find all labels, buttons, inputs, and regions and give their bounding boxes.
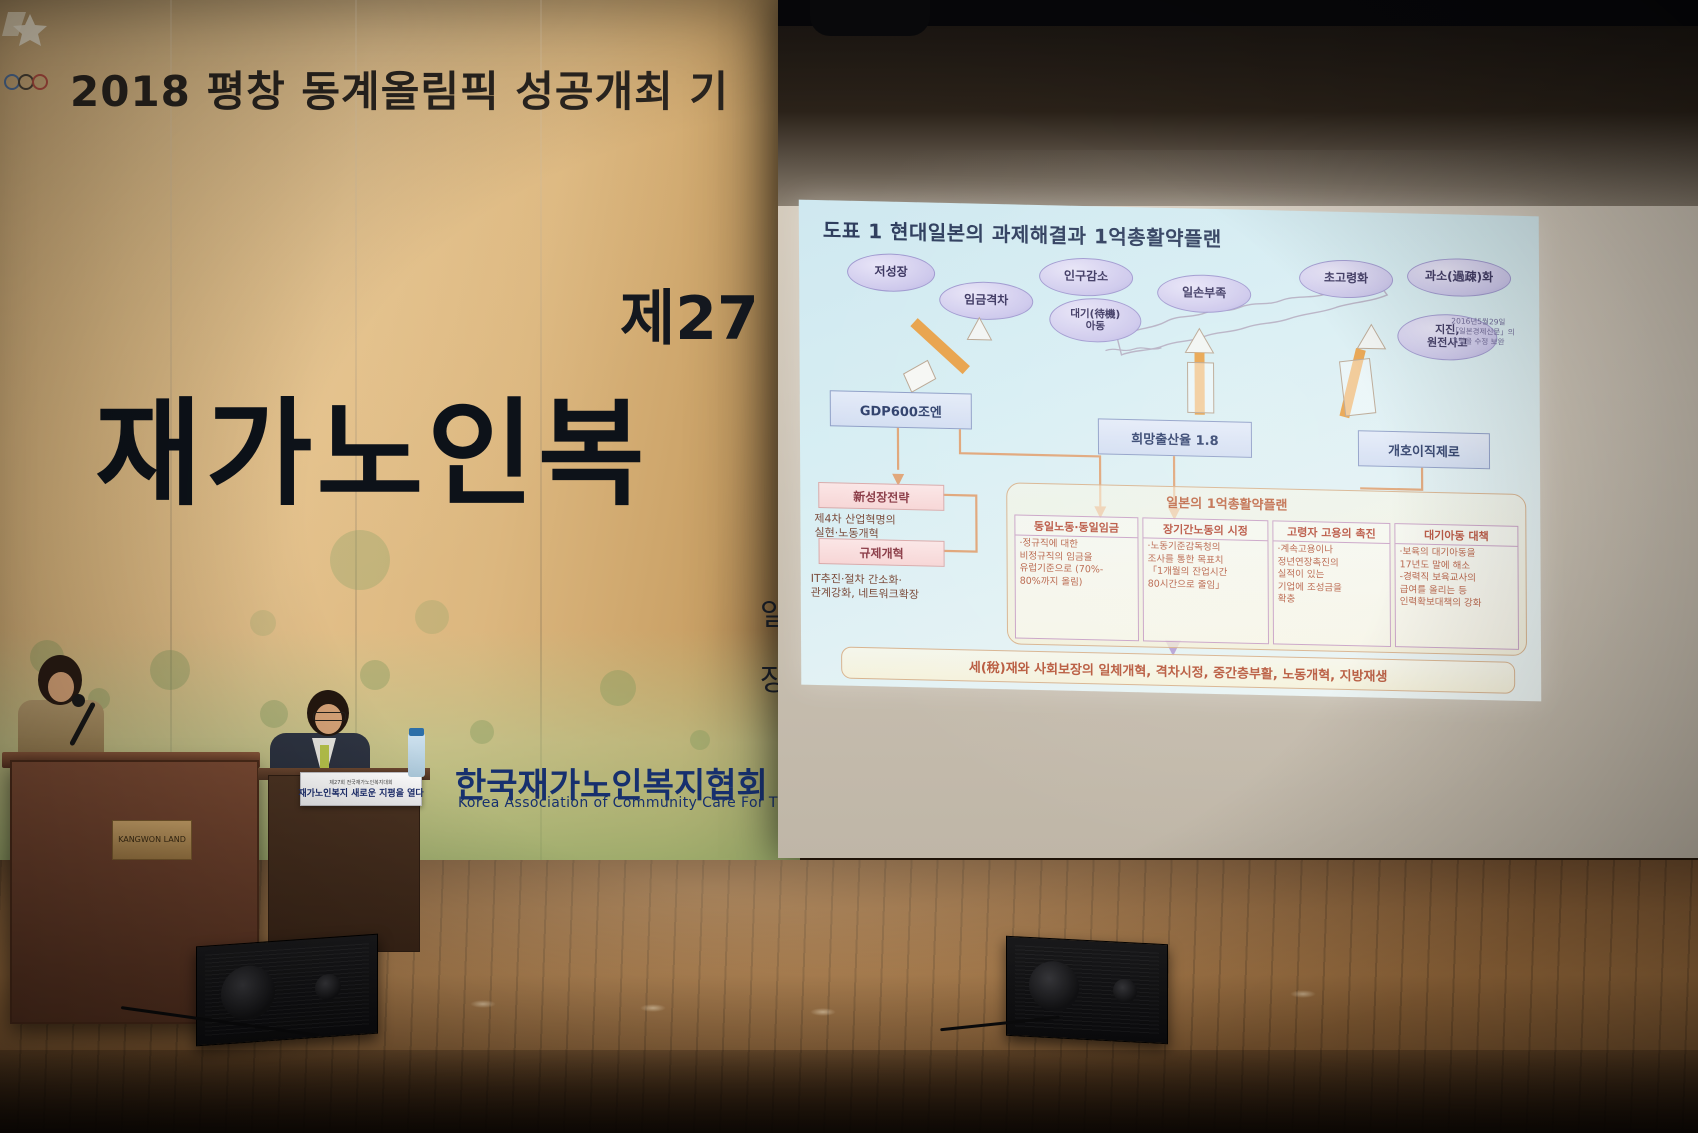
policy-box-body: ·계속고용이나 정년연장촉진의 실적이 있는 기업에 조성금을 확충 xyxy=(1277,543,1386,608)
strategy-box-label: 규제개혁 xyxy=(859,543,903,561)
slide-footer-text: 세(稅)재와 사회보장의 일체개혁, 격차시정, 중간층부활, 노동개혁, 지방… xyxy=(969,656,1388,685)
table-sign-small-line: 제27회 전국재가노인복지대회 xyxy=(329,779,392,786)
policy-box-0: 동일노동·동일임금 ·정규직에 대한 비정규직의 임금을 유럽기준으로 (70%… xyxy=(1014,514,1139,641)
water-bottle xyxy=(408,733,425,777)
floor-reflection-2 xyxy=(640,1004,666,1012)
presentation-slide: 도표 1 현대일본의 과제해결과 1억총활약플랜 저성장 임금격차 인구감소 대… xyxy=(799,200,1542,702)
banner-main-title: 재가노인복 xyxy=(95,360,649,528)
olympic-logo-icon xyxy=(0,10,70,100)
floor-reflection-3 xyxy=(810,1008,836,1016)
policy-box-2: 고령자 고용의 촉진 ·계속고용이나 정년연장촉진의 실적이 있는 기업에 조성… xyxy=(1272,520,1391,647)
policy-panel-title: 일본의 1억총활약플랜 xyxy=(1166,492,1287,514)
strategy-box-1: 규제개혁 xyxy=(819,538,945,567)
strategy-note-1: IT추진·절차 간소화· 관계강화, 네트워크확장 xyxy=(811,572,919,603)
policy-box-heading: 동일노동·동일임금 xyxy=(1015,515,1137,538)
ceiling-truss xyxy=(810,0,930,36)
podium-plate: KANGWON LAND xyxy=(112,820,192,860)
banner-subtitle: 제27 xyxy=(620,270,759,357)
policy-box-3: 대기아동 대책 ·보육의 대기아동을 17년도 말에 해소 -경력직 보육교사의… xyxy=(1394,523,1519,650)
policy-box-body: ·정규직에 대한 비정규직의 임금을 유럽기준으로 (70%- 80%까지 올림… xyxy=(1019,538,1134,591)
water-bottle-cap xyxy=(409,728,424,736)
podium-plate-text: KANGWON LAND xyxy=(118,836,186,845)
stage-front-shadow xyxy=(0,1050,1698,1133)
eyeglasses-icon xyxy=(313,712,346,721)
conference-photo: 2018 평창 동계올림픽 성공개최 기 제27 재가노인복 일 장 한국재가노… xyxy=(0,0,1698,1133)
floor-reflection-4 xyxy=(1290,990,1316,998)
policy-box-heading: 고령자 고용의 촉진 xyxy=(1273,521,1389,544)
policy-box-body: ·보육의 대기아동을 17년도 말에 해소 -경력직 보육교사의 급여를 올리는… xyxy=(1399,546,1514,611)
table-name-sign: 제27회 전국재가노인복지대회 재가노인복지 새로운 지평을 열다 xyxy=(300,772,422,806)
policy-box-body: ·노동기준감독청의 조사를 통한 목표치 「1개월의 잔업시간 80시간으로 줄… xyxy=(1147,540,1264,593)
strategy-box-0: 新성장전략 xyxy=(818,482,944,511)
strategy-box-label: 新성장전략 xyxy=(853,487,909,505)
policy-box-heading: 대기아동 대책 xyxy=(1395,524,1517,547)
table-sign-main-line: 재가노인복지 새로운 지평을 열다 xyxy=(298,786,423,799)
policy-box-heading: 장기간노동의 시정 xyxy=(1143,518,1267,541)
microphone-head-icon xyxy=(72,694,85,707)
banner-title: 2018 평창 동계올림픽 성공개최 기 xyxy=(70,58,770,119)
policy-box-1: 장기간노동의 시정 ·노동기준감독청의 조사를 통한 목표치 「1개월의 잔업시… xyxy=(1142,517,1269,644)
floor-reflection-1 xyxy=(470,1000,496,1008)
stage-monitor-right xyxy=(1006,936,1168,1044)
